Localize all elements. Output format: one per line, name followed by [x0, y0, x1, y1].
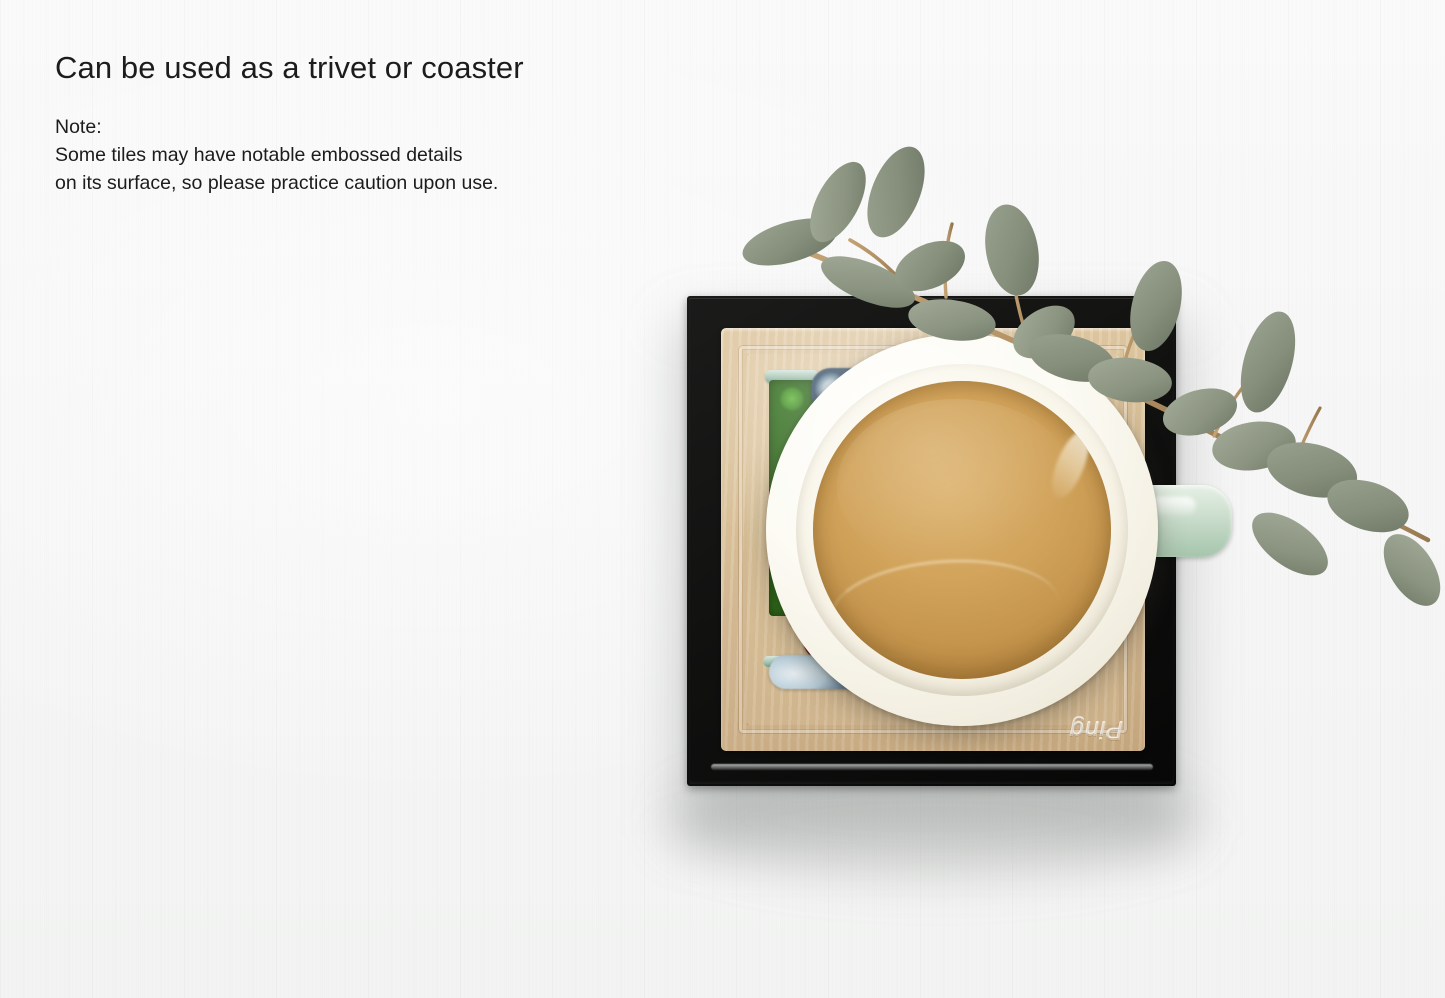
tile-maker-mark: Ping — [1069, 717, 1123, 742]
note-label: Note: — [55, 113, 695, 141]
note-text-line-1: Some tiles may have notable embossed det… — [55, 141, 695, 169]
caption-block: Can be used as a trivet or coaster Note:… — [55, 48, 695, 197]
note-text-line-2: on its surface, so please practice cauti… — [55, 169, 695, 197]
milk-tea-surface — [813, 381, 1111, 679]
page-root: Can be used as a trivet or coaster Note:… — [0, 0, 1445, 998]
product-photo: Ping — [600, 140, 1445, 880]
teacup — [766, 334, 1158, 726]
tray-bottom-highlight — [711, 764, 1153, 770]
tea-sheen — [837, 399, 1075, 572]
note-block: Note: Some tiles may have notable emboss… — [55, 113, 695, 197]
page-title: Can be used as a trivet or coaster — [55, 48, 695, 88]
